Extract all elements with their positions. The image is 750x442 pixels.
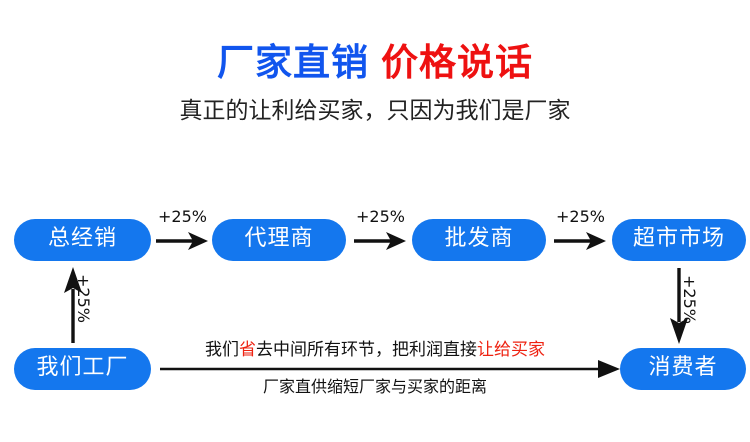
caption-sub: 厂家直供缩短厂家与买家的距离	[0, 377, 750, 396]
caption-main: 我们省去中间所有环节，把利润直接让给买家	[0, 340, 750, 360]
promo-banner: 厂家直销价格说话 真正的让利给买家，只因为我们是厂家 总经销 代理商 批发商 超…	[0, 0, 750, 442]
node-agent-label: 代理商	[244, 228, 313, 252]
page-subtitle: 真正的让利给买家，只因为我们是厂家	[0, 98, 750, 126]
page-title-blue-segment: 厂家直销	[217, 41, 369, 84]
markup-label-2: +25%	[356, 209, 405, 225]
node-general-distributor-label: 总经销	[48, 228, 117, 252]
page-title: 厂家直销价格说话	[0, 44, 750, 81]
arrow-factory-to-consumer	[160, 360, 620, 378]
node-wholesaler: 批发商	[412, 219, 546, 261]
markup-label-1: +25%	[158, 209, 207, 225]
arrow-wholesaler-to-supermarket	[554, 231, 606, 251]
node-wholesaler-label: 批发商	[444, 228, 513, 252]
node-general-distributor: 总经销	[14, 219, 151, 261]
markup-label-3: +25%	[556, 209, 605, 225]
node-supermarket: 超市市场	[612, 219, 746, 261]
markup-label-factory-to-distributor: +25%	[75, 274, 91, 323]
arrow-agent-to-wholesaler	[354, 231, 406, 251]
caption-main-part2: 去中间所有环节，把利润直接	[256, 340, 477, 360]
caption-main-part1: 我们	[205, 340, 239, 360]
caption-main-highlight1: 省	[239, 340, 256, 360]
markup-label-supermarket-to-consumer: +25%	[681, 275, 697, 324]
arrow-distributor-to-agent	[156, 231, 208, 251]
caption-main-highlight2: 让给买家	[477, 340, 545, 360]
node-supermarket-label: 超市市场	[633, 228, 725, 252]
page-title-red-segment: 价格说话	[381, 41, 533, 84]
node-agent: 代理商	[212, 219, 346, 261]
